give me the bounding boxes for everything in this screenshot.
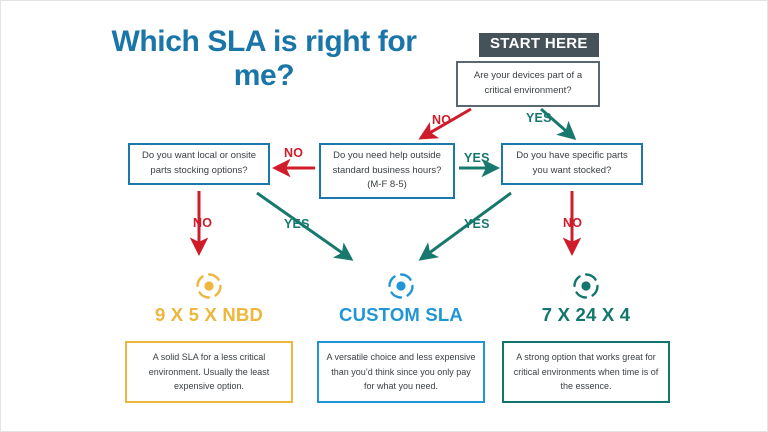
dashed-ring-target-icon <box>306 269 496 303</box>
start-here-badge: START HERE <box>479 33 599 57</box>
page-title: Which SLA is right for me? <box>109 25 419 92</box>
decision-box-critical-environment[interactable]: Are your devices part of a critical envi… <box>456 61 600 107</box>
outcome-custom-sla: CUSTOM SLA <box>306 269 496 326</box>
edge-label-start-yes: YES <box>526 111 552 125</box>
edge-label-mid-yes: YES <box>464 151 490 165</box>
decision-box-business-hours[interactable]: Do you need help outside standard busine… <box>319 143 455 199</box>
edge-label-mid-no: NO <box>284 146 303 160</box>
decision-box-specific-parts[interactable]: Do you have specific parts you want stoc… <box>501 143 643 185</box>
edge-label-start-no: NO <box>432 113 451 127</box>
decision-box-parts-stocking[interactable]: Do you want local or onsite parts stocki… <box>128 143 270 185</box>
dashed-ring-target-icon <box>491 269 681 303</box>
outcome-name: CUSTOM SLA <box>306 304 496 326</box>
outcome-7x24x4: 7 X 24 X 4 <box>491 269 681 326</box>
edge-label-left-yes: YES <box>284 217 310 231</box>
outcome-name: 9 X 5 X NBD <box>114 304 304 326</box>
edge-label-right-no: NO <box>563 216 582 230</box>
edge-label-right-yes: YES <box>464 217 490 231</box>
dashed-ring-target-icon <box>114 269 304 303</box>
description-box-nbd: A solid SLA for a less critical environm… <box>125 341 293 403</box>
description-box-7x24x4: A strong option that works great for cri… <box>502 341 670 403</box>
outcome-name: 7 X 24 X 4 <box>491 304 681 326</box>
outcome-nbd: 9 X 5 X NBD <box>114 269 304 326</box>
flowchart-canvas: Which SLA is right for me? START HERE Ar… <box>0 0 768 432</box>
description-box-custom-sla: A versatile choice and less expensive th… <box>317 341 485 403</box>
edge-label-left-no: NO <box>193 216 212 230</box>
